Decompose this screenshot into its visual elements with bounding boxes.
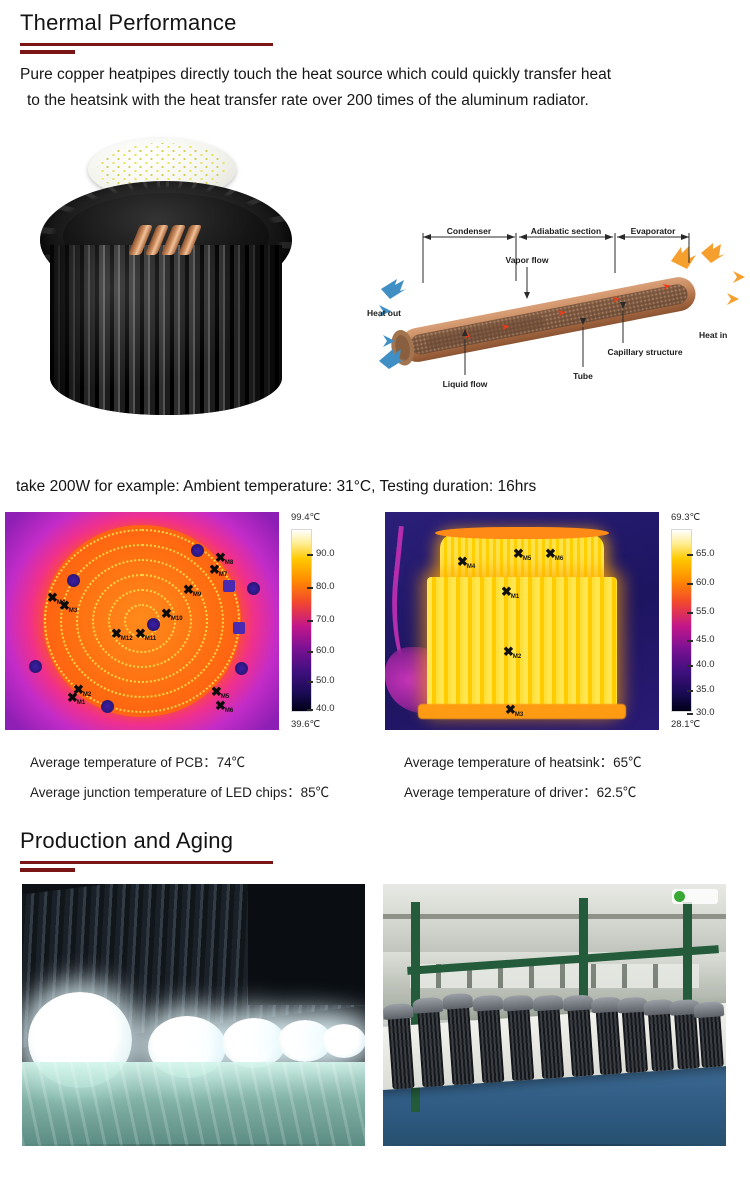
colorbar-ticks-pcb: 90.0 80.0 70.0 60.0 50.0 40.0 (312, 529, 360, 712)
aging-dark-corner (248, 884, 365, 1005)
led-highbay-product-photo (26, 133, 326, 438)
copper-heatpipes (128, 225, 202, 255)
intro-line-2: to the heatsink with the heat transfer r… (20, 88, 732, 114)
thermal-captions-pcb: Average temperature of PCB：74℃ Average j… (30, 748, 329, 808)
tick-45: 45.0 (692, 634, 715, 645)
ir-hole (67, 574, 80, 587)
assembled-lamp (477, 1008, 504, 1083)
colorbar-max-pcb: 99.4℃ (283, 512, 320, 523)
assembled-lamp (596, 1009, 622, 1074)
ir-pad (233, 622, 245, 634)
thermal-image-pcb: ✖M4 ✖M3 ✖M8 ✖M7 ✖M9 ✖M10 ✖M12 ✖M11 ✖M2 ✖… (5, 512, 279, 730)
assembled-lamp (447, 1006, 474, 1085)
ir-hole (247, 582, 260, 595)
colorbar-heatsink: 69.3℃ 65.0 60.0 55.0 45.0 40.0 35.0 30.0… (663, 512, 741, 730)
section-header-production: Production and Aging (0, 826, 750, 872)
tick-60: 60.0 (692, 577, 715, 588)
ir-fin-barrel (427, 577, 616, 712)
assembled-lamp (388, 1016, 415, 1089)
marker-m5: ✖M5 (513, 546, 531, 562)
tick-65: 65.0 (692, 548, 715, 559)
ir-hole (191, 544, 204, 557)
label-vapor-flow: Vapor flow (506, 255, 549, 265)
marker-m2: ✖M2 (503, 644, 521, 660)
intro-line-1: Pure copper heatpipes directly touch the… (20, 62, 732, 88)
caption-driver-avg: Average temperature of driver：62.5℃ (404, 778, 642, 808)
marker-m7: ✖M7 (209, 562, 227, 578)
assembled-lamp (648, 1012, 674, 1071)
colorbar-min-pcb: 39.6℃ (283, 719, 320, 730)
label-heat-out: Heat out (367, 308, 401, 318)
thermal-captions-heatsink: Average temperature of heatsink：65℃ Aver… (404, 748, 642, 808)
marker-m3: ✖M3 (59, 598, 77, 614)
page-title: Thermal Performance (0, 8, 750, 38)
aging-floor (22, 1062, 365, 1146)
ir-hole (29, 660, 42, 673)
lit-lamp (322, 1024, 365, 1058)
assembled-lamp (698, 1014, 724, 1067)
tick-30: 30.0 (692, 707, 715, 718)
marker-m9: ✖M9 (183, 582, 201, 598)
assembled-lamp (622, 1010, 648, 1073)
ir-hole (235, 662, 248, 675)
heatsink-fin-body (50, 245, 282, 415)
section-title-production: Production and Aging (0, 826, 750, 856)
watermark-badge (672, 889, 718, 904)
intro-paragraph: Pure copper heatpipes directly touch the… (20, 62, 732, 114)
photo-shadow (383, 1144, 726, 1146)
tick-70: 70.0 (312, 614, 335, 625)
tick-35: 35.0 (692, 684, 715, 695)
factory-assembly-photo (383, 884, 726, 1146)
colorbar-pcb: 99.4℃ 90.0 80.0 70.0 60.0 50.0 40.0 39.6… (283, 512, 361, 730)
colorbar-min-heatsink: 28.1℃ (663, 719, 700, 730)
assembled-lamp (537, 1007, 564, 1078)
colorbar-ticks-heatsink: 65.0 60.0 55.0 45.0 40.0 35.0 30.0 (692, 529, 740, 712)
marker-m6: ✖M6 (545, 546, 563, 562)
tick-60: 60.0 (312, 645, 335, 656)
tick-40: 40.0 (692, 659, 715, 670)
assembled-lamp (674, 1012, 700, 1069)
caption-pcb-avg: Average temperature of PCB：74℃ (30, 748, 329, 778)
test-condition-text: take 200W for example: Ambient temperatu… (16, 478, 536, 496)
ir-pad (223, 580, 235, 592)
label-evaporator: Evaporator (631, 226, 677, 236)
tick-90: 90.0 (312, 548, 335, 559)
assembled-lamp (417, 1010, 444, 1087)
marker-m1: ✖M1 (501, 584, 519, 600)
assembled-lamp (568, 1007, 595, 1076)
colorbar-max-heatsink: 69.3℃ (663, 512, 700, 523)
heading-rule-long (20, 43, 273, 46)
label-adiabatic: Adiabatic section (531, 226, 601, 236)
marker-m11: ✖M11 (135, 626, 156, 642)
heatpipe-svg: Condenser Adiabatic section Evaporator V… (345, 215, 745, 395)
caption-led-junction: Average junction temperature of LED chip… (30, 778, 329, 808)
lit-lamp (222, 1018, 286, 1068)
heatsink-shading (50, 245, 282, 415)
label-liquid-flow: Liquid flow (443, 379, 488, 389)
tick-40: 40.0 (312, 703, 335, 714)
label-condenser: Condenser (447, 226, 492, 236)
marker-m10: ✖M10 (161, 606, 183, 622)
ir-led-rings (5, 512, 279, 730)
heatpipe-principle-diagram: Condenser Adiabatic section Evaporator V… (345, 215, 745, 395)
photo-shadow (22, 1144, 365, 1146)
thermal-image-heatsink: ✖M4 ✖M5 ✖M6 ✖M1 ✖M2 ✖M3 (385, 512, 659, 730)
tick-50: 50.0 (312, 675, 335, 686)
thermal-block-pcb: ✖M4 ✖M3 ✖M8 ✖M7 ✖M9 ✖M10 ✖M12 ✖M11 ✖M2 ✖… (5, 512, 285, 730)
tick-80: 80.0 (312, 581, 335, 592)
heat-out-arrows (363, 279, 406, 369)
marker-m4: ✖M4 (457, 554, 475, 570)
colorbar-gradient-heatsink (671, 529, 692, 712)
marker-m12: ✖M12 (111, 626, 133, 642)
factory-scene (383, 884, 726, 1146)
label-tube: Tube (573, 371, 593, 381)
heading-rule-short (20, 868, 75, 872)
heading-rule-long (20, 861, 273, 864)
label-capillary: Capillary structure (607, 347, 682, 357)
marker-m3: ✖M3 (505, 702, 523, 718)
caption-heatsink-avg: Average temperature of heatsink：65℃ (404, 748, 642, 778)
heading-rule-short (20, 50, 75, 54)
section-header-thermal: Thermal Performance (0, 8, 750, 54)
label-heat-in: Heat in (699, 330, 727, 340)
tick-55: 55.0 (692, 606, 715, 617)
aging-test-photo (22, 884, 365, 1146)
thermal-block-heatsink: ✖M4 ✖M5 ✖M6 ✖M1 ✖M2 ✖M3 69.3℃ 65.0 60.0 … (385, 512, 665, 730)
ir-hole (101, 700, 114, 713)
marker-m1: ✖M1 (67, 690, 85, 706)
marker-m6: ✖M6 (215, 698, 233, 714)
aging-scene (22, 884, 365, 1146)
badge-circle-icon (674, 891, 685, 902)
assembled-lamp (507, 1008, 534, 1081)
